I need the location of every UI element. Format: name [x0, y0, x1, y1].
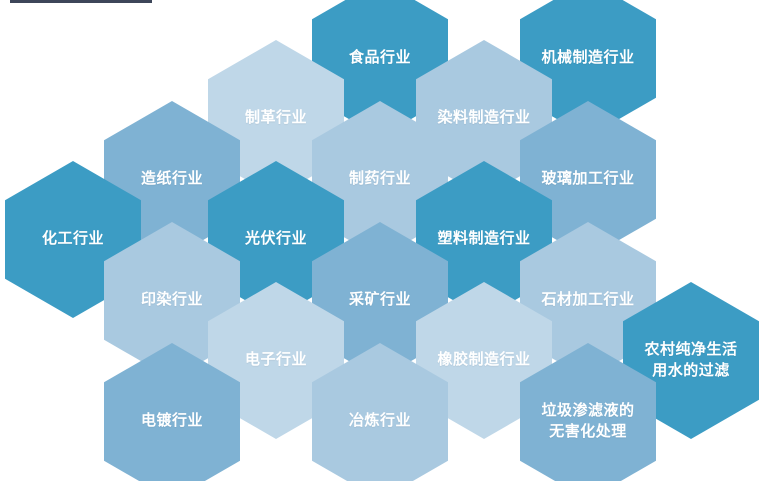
hexagon-label-paper: 造纸行业	[141, 169, 203, 189]
hexagon-label-plastic: 塑料制造行业	[437, 229, 530, 249]
hexagon-label-leather: 制革行业	[245, 108, 307, 128]
hexagon-label-printing_dyeing: 印染行业	[141, 290, 203, 310]
hexagon-label-dye: 染料制造行业	[437, 108, 530, 128]
hexagon-label-chemical: 化工行业	[42, 229, 104, 249]
hexagon-diagram-canvas: 食品行业机械制造行业制革行业染料制造行业造纸行业制药行业玻璃加工行业化工行业光伏…	[0, 0, 760, 481]
hexagon-label-electroplating: 电镀行业	[141, 411, 203, 431]
hexagon-label-mining: 采矿行业	[349, 290, 411, 310]
hexagon-label-pharma: 制药行业	[349, 169, 411, 189]
hexagon-label-stone: 石材加工行业	[541, 290, 634, 310]
hexagon-label-food: 食品行业	[349, 48, 411, 68]
hexagon-label-smelting: 冶炼行业	[349, 411, 411, 431]
hexagon-label-photovoltaic: 光伏行业	[245, 229, 307, 249]
hexagon-label-electronics: 电子行业	[245, 350, 307, 370]
hexagon-grid: 食品行业机械制造行业制革行业染料制造行业造纸行业制药行业玻璃加工行业化工行业光伏…	[0, 0, 760, 481]
hexagon-label-glass: 玻璃加工行业	[541, 169, 634, 189]
hexagon-label-rubber: 橡胶制造行业	[437, 350, 530, 370]
hexagon-label-machinery: 机械制造行业	[541, 48, 634, 68]
hexagon-label-leachate: 垃圾渗滤液的 无害化处理	[541, 401, 634, 442]
hexagon-label-rural_water: 农村纯净生活 用水的过滤	[644, 340, 737, 381]
